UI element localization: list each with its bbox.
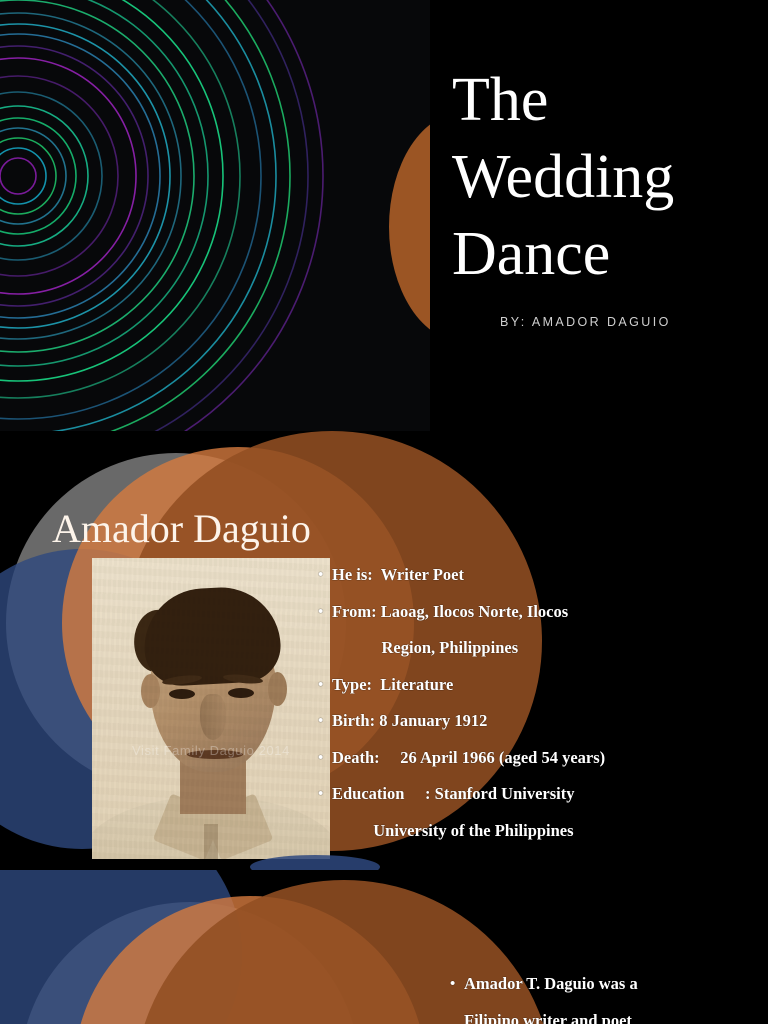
list-item: • Filipino writer and poet xyxy=(450,1003,760,1024)
bullet-icon: • xyxy=(318,776,332,813)
photo-watermark: Visit Family Daguio 2014 xyxy=(92,743,330,758)
title-line-2: Wedding xyxy=(452,139,752,216)
list-item: • Amador T. Daguio was a xyxy=(450,966,760,1003)
list-item: • From: Laoag, Ilocos Norte, Ilocos xyxy=(318,594,748,631)
list-item: • Education : Stanford University xyxy=(318,776,748,813)
list-item: • Type: Literature xyxy=(318,667,748,704)
photo-grain-overlay xyxy=(92,558,330,859)
arcs-svg xyxy=(0,0,430,431)
list-item: • University of the Philippines xyxy=(318,813,748,850)
bullet-icon: • xyxy=(318,594,332,631)
list-item: • Birth: 8 January 1912 xyxy=(318,703,748,740)
list-item: • He is: Writer Poet xyxy=(318,557,748,594)
list-item-label: Death: 26 April 1966 (aged 54 years) xyxy=(332,740,748,777)
title-subtitle: BY: AMADOR DAGUIO xyxy=(500,315,671,329)
bullet-icon: • xyxy=(318,667,332,704)
concentric-arcs-decoration xyxy=(0,0,430,431)
title-line-1: The xyxy=(452,62,752,139)
list-item-label: Amador T. Daguio was a xyxy=(464,966,760,1002)
list-item-label: University of the Philippines xyxy=(332,813,748,850)
list-item-label: He is: Writer Poet xyxy=(332,557,748,594)
title-slide: The Wedding Dance BY: AMADOR DAGUIO xyxy=(0,0,768,431)
list-item-label: Region, Philippines xyxy=(332,630,748,667)
biography-slide: Amador Daguio Visit Family xyxy=(0,431,768,870)
bio-bullet-list: • He is: Writer Poet • From: Laoag, Iloc… xyxy=(318,557,748,849)
list-item: • Region, Philippines xyxy=(318,630,748,667)
photo-backdrop: Visit Family Daguio 2014 xyxy=(92,558,330,859)
bullet-icon: • xyxy=(450,966,464,1003)
title-line-3: Dance xyxy=(452,216,752,293)
list-item-label: Birth: 8 January 1912 xyxy=(332,703,748,740)
bullet-icon: • xyxy=(318,703,332,740)
portrait-photo: Visit Family Daguio 2014 xyxy=(92,558,330,859)
bullet-icon: • xyxy=(318,740,332,777)
bullet-icon: • xyxy=(318,557,332,594)
page-title: Amador Daguio xyxy=(52,506,311,552)
title-text-block: The Wedding Dance xyxy=(452,62,752,293)
list-item-label: Type: Literature xyxy=(332,667,748,704)
presentation-deck: The Wedding Dance BY: AMADOR DAGUIO Amad… xyxy=(0,0,768,1024)
list-item-label: Education : Stanford University xyxy=(332,776,748,813)
list-item-label: From: Laoag, Ilocos Norte, Ilocos xyxy=(332,594,748,631)
list-item: • Death: 26 April 1966 (aged 54 years) xyxy=(318,740,748,777)
about-bullet-list: • Amador T. Daguio was a • Filipino writ… xyxy=(450,966,760,1024)
about-slide: • Amador T. Daguio was a • Filipino writ… xyxy=(0,870,768,1024)
list-item-label: Filipino writer and poet xyxy=(464,1003,760,1024)
